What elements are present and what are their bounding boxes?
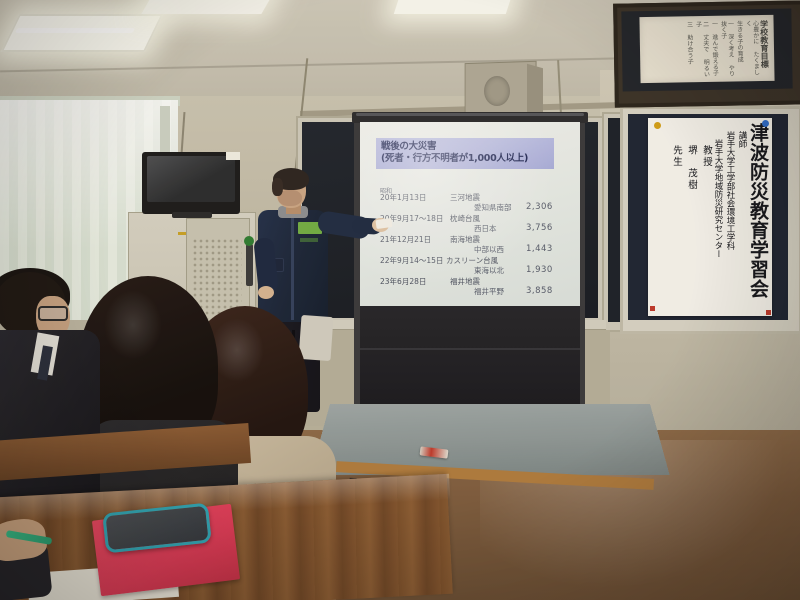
poster-rank: 教授	[700, 123, 712, 168]
poster-role-label: 講師	[737, 123, 747, 148]
poster-honorific: 先生	[670, 123, 682, 168]
tv-screen	[147, 156, 235, 202]
screen-glare	[360, 122, 580, 308]
hair-highlight	[104, 290, 162, 360]
screen-fold-line	[360, 348, 580, 350]
speaker-side	[527, 64, 543, 117]
poster-text-columns: 津波防災教育学習会 講師 岩手大学工学部社会環境工学科 岩手大学地域防災研究セン…	[648, 118, 772, 316]
classroom-scene: 戦後の大災害 (死者・行方不明者が1,000人以上) 昭和 20年1月13日 三…	[0, 0, 800, 600]
eyeglasses-icon	[38, 306, 68, 321]
fluorescent-light-icon	[394, 0, 514, 14]
magnet-pin-icon[interactable]	[650, 306, 655, 311]
motto-text-columns: 学校教育目標 心豊かに たくましく 生きる子の育成 一 深く考え やり抜く子 一…	[641, 17, 772, 81]
poster-title: 津波防災教育学習会	[748, 123, 768, 299]
magnet-pin-icon[interactable]	[766, 310, 771, 315]
cabinet-indicator-icon	[244, 236, 254, 246]
motto-line: 心豊かに たくましく	[745, 20, 760, 76]
motto-line: 一 深く考え やり抜く子	[720, 21, 735, 77]
hair-highlight	[210, 318, 264, 382]
poster-name: 堺 茂樹	[685, 123, 697, 191]
magnet-pin-icon[interactable]	[654, 122, 661, 129]
motto-line: 二 丈夫で 明るい子	[695, 21, 710, 77]
tv-label	[226, 152, 240, 160]
magnet-pin-icon[interactable]	[762, 120, 769, 127]
motto-line: 三 助け合う子	[686, 21, 694, 77]
poster-affiliation-1: 岩手大学工学部社会環境工学科	[725, 123, 735, 250]
speaker-cone-icon	[484, 76, 510, 106]
poster-affiliation-2: 岩手大学地域防災研究センター	[713, 123, 723, 258]
motto-line: 一 進んで鍛える子	[711, 21, 719, 77]
fluorescent-light-icon	[1, 14, 164, 52]
jacket-zipper	[291, 216, 294, 320]
jacket-logo-text	[300, 238, 318, 242]
presenter-hair-side	[272, 178, 283, 196]
cabinet-latch[interactable]	[246, 244, 253, 286]
presenter-left-hand	[258, 286, 274, 299]
cabinet-handle[interactable]	[178, 232, 186, 235]
screen-top-bar-highlight	[356, 113, 584, 116]
light-tube	[15, 28, 135, 33]
folding-chair[interactable]	[299, 315, 334, 361]
fluorescent-light-icon	[141, 0, 278, 14]
motto-heading: 学校教育目標	[761, 20, 769, 76]
tv-stand	[172, 212, 212, 218]
motto-line: 生きる子の育成	[736, 20, 744, 76]
